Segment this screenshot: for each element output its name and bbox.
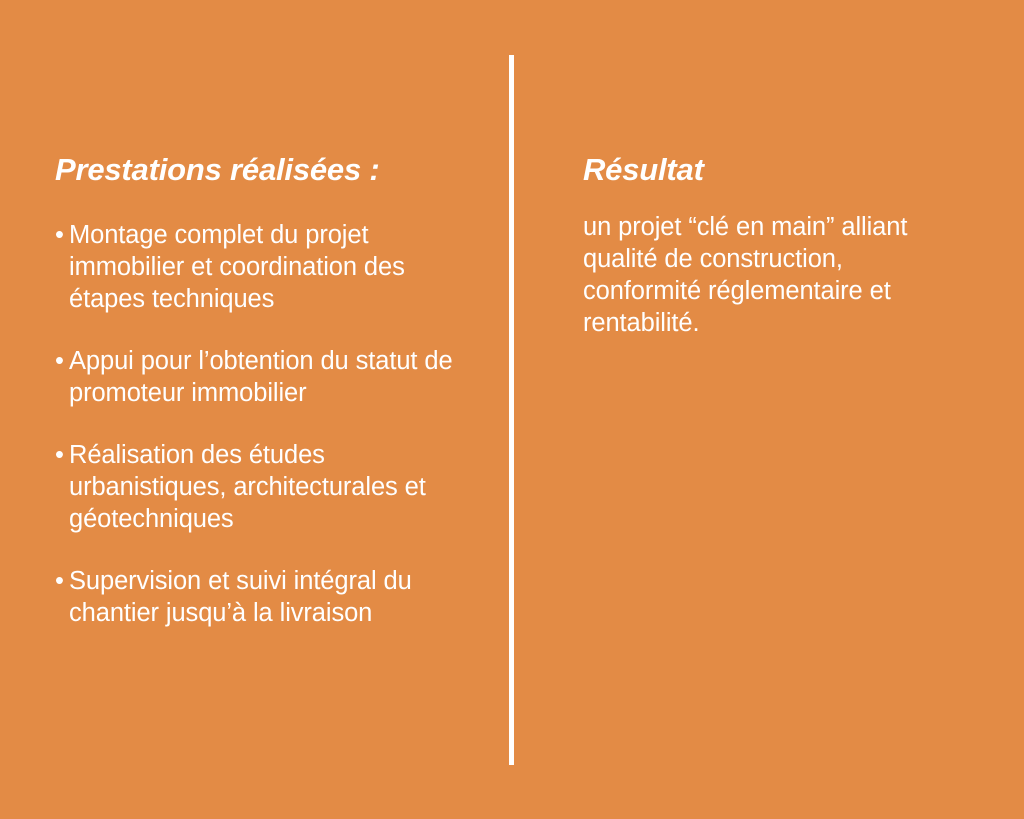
list-item-label: Supervision et suivi intégral du chantie… bbox=[69, 565, 475, 629]
slide-canvas: Prestations réalisées : • Montage comple… bbox=[0, 0, 1024, 819]
column-divider bbox=[509, 55, 514, 765]
list-item-label: Montage complet du projet immobilier et … bbox=[69, 219, 475, 315]
left-column: Prestations réalisées : • Montage comple… bbox=[55, 0, 475, 629]
right-column: Résultat un projet “clé en main” alliant… bbox=[583, 0, 963, 339]
list-item-label: Réalisation des études urbanistiques, ar… bbox=[69, 439, 475, 535]
list-item: • Montage complet du projet immobilier e… bbox=[55, 219, 475, 315]
right-column-heading: Résultat bbox=[583, 152, 963, 189]
list-item-label: Appui pour l’obtention du statut de prom… bbox=[69, 345, 475, 409]
services-bullet-list: • Montage complet du projet immobilier e… bbox=[55, 219, 475, 629]
list-item: • Supervision et suivi intégral du chant… bbox=[55, 565, 475, 629]
result-paragraph: un projet “clé en main” alliant qualité … bbox=[583, 211, 963, 339]
bullet-point-icon: • bbox=[55, 345, 64, 377]
list-item: • Appui pour l’obtention du statut de pr… bbox=[55, 345, 475, 409]
left-column-heading: Prestations réalisées : bbox=[55, 152, 475, 189]
bullet-point-icon: • bbox=[55, 439, 64, 471]
list-item: • Réalisation des études urbanistiques, … bbox=[55, 439, 475, 535]
bullet-point-icon: • bbox=[55, 219, 64, 251]
bullet-point-icon: • bbox=[55, 565, 64, 597]
